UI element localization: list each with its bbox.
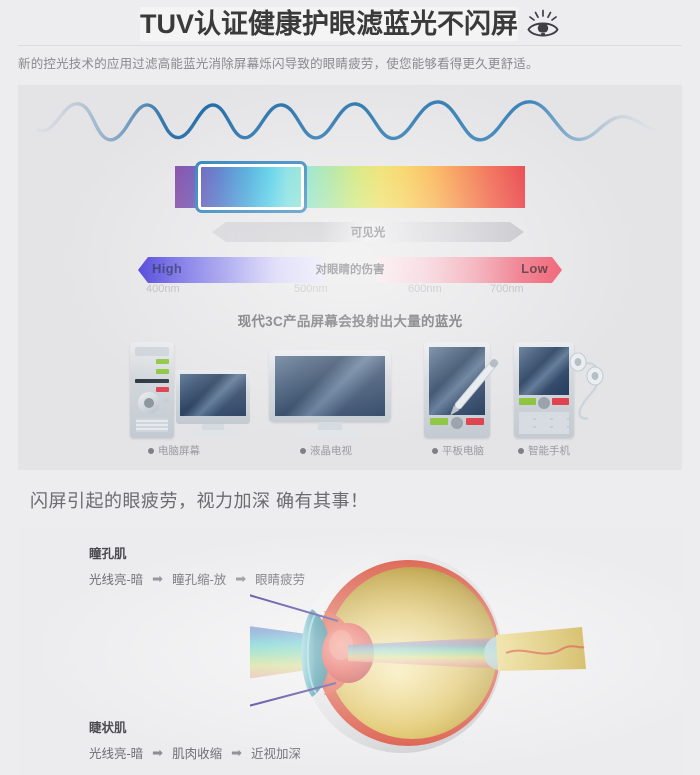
earphones-icon bbox=[568, 350, 616, 422]
damage-low-label: Low bbox=[521, 261, 548, 276]
eye-diagram-panel: 瞳孔肌 光线亮-暗 ➡ 瞳孔缩-放 ➡ 眼睛疲劳 睫状肌 光线亮-暗 ➡ 肌肉收… bbox=[18, 527, 682, 775]
flow-step: 肌肉收缩 bbox=[172, 743, 222, 762]
arrow-right-icon: ➡ bbox=[231, 746, 242, 759]
device-label: 平板电脑 bbox=[432, 443, 484, 458]
title-divider bbox=[18, 45, 682, 46]
blue-light-caption: 现代3C产品屏幕会投射出大量的蓝光 bbox=[18, 310, 682, 330]
blue-light-highlight-box bbox=[195, 161, 307, 213]
arrow-right-icon: ➡ bbox=[152, 746, 163, 759]
visible-light-range-arrow: 可见光 bbox=[212, 220, 524, 244]
page-title-row: TUV认证健康护眼滤蓝光不闪屏 bbox=[0, 6, 700, 42]
eye-damage-scale: High 对眼睛的伤害 Low bbox=[138, 257, 562, 283]
stylus-pen-icon bbox=[432, 348, 514, 430]
bullet-dot bbox=[148, 448, 154, 454]
wavelength-tick: 600nm bbox=[408, 283, 442, 295]
wavelength-tick: 400nm bbox=[146, 283, 180, 295]
product-detail-page: TUV认证健康护眼滤蓝光不闪屏 新的控光技术的应用过滤高能蓝光消除屏幕烁闪导致的… bbox=[0, 0, 700, 775]
arrow-right-icon: ➡ bbox=[235, 572, 246, 585]
smartphone-earphones-icon: 智能手机 bbox=[510, 342, 620, 438]
visible-light-label: 可见光 bbox=[212, 220, 524, 244]
bullet-dot bbox=[432, 448, 438, 454]
device-label: 智能手机 bbox=[518, 443, 570, 458]
device-label: 电脑屏幕 bbox=[148, 443, 200, 458]
device-illustration-row: 电脑屏幕 液晶电视 bbox=[18, 340, 682, 460]
wavelength-tick: 700nm bbox=[490, 283, 524, 295]
eye-light-icon bbox=[526, 9, 560, 39]
blue-sine-wave-icon bbox=[20, 90, 680, 150]
lcd-tv-icon: 液晶电视 bbox=[266, 342, 394, 438]
arrow-right-icon: ➡ bbox=[152, 572, 163, 585]
damage-high-label: High bbox=[152, 261, 182, 276]
damage-middle-label: 对眼睛的伤害 bbox=[316, 261, 385, 277]
flow-step: 瞳孔缩-放 bbox=[172, 569, 226, 588]
desktop-computer-icon: 电脑屏幕 bbox=[130, 342, 250, 438]
flow-step: 光线亮-暗 bbox=[89, 569, 143, 588]
wavelength-axis: 400nm 500nm 600nm 700nm bbox=[138, 283, 562, 299]
human-eye-cross-section-icon bbox=[250, 549, 602, 757]
eye-fatigue-heading: 闪屏引起的眼疲劳，视力加深 确有其事！ bbox=[30, 487, 369, 513]
wavelength-tick: 500nm bbox=[294, 283, 328, 295]
visible-spectrum-bar bbox=[175, 161, 525, 213]
device-label: 液晶电视 bbox=[300, 443, 352, 458]
spectrum-panel: 可见光 High 对眼睛的伤害 Low 400nm 500nm 600nm 70… bbox=[18, 85, 682, 470]
page-title: TUV认证健康护眼滤蓝光不闪屏 bbox=[140, 7, 518, 41]
page-subtitle: 新的控光技术的应用过滤高能蓝光消除屏幕烁闪导致的眼睛疲劳，使您能够看得更久更舒适… bbox=[18, 53, 682, 72]
bullet-dot bbox=[300, 448, 306, 454]
bullet-dot bbox=[518, 448, 524, 454]
flow-step: 光线亮-暗 bbox=[89, 743, 143, 762]
